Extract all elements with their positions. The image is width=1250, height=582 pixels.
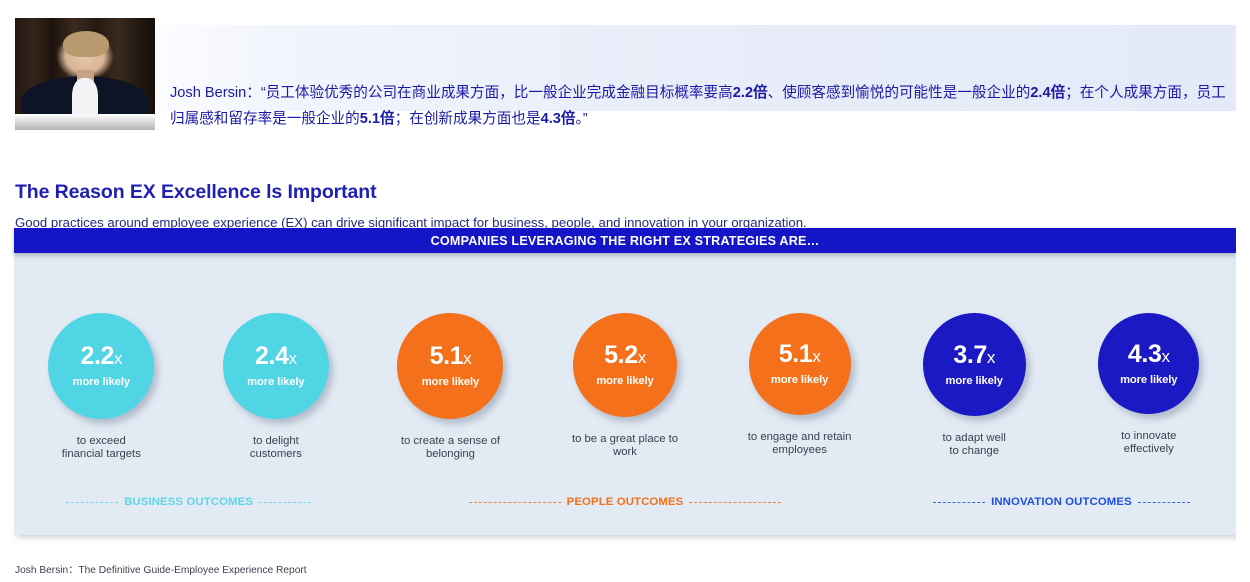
stat-multiplier-suffix: x (1161, 347, 1169, 366)
stat-caption: to create a sense of belonging (401, 435, 500, 461)
legend-rule-left (469, 502, 561, 503)
quote-mid-3: ；在创新成果方面也是 (395, 111, 541, 127)
stat-bubble[interactable]: 4.3xmore likely (1098, 313, 1199, 414)
stat-item: 2.4xmore likelyto delight customers (189, 313, 364, 461)
stat-multiplier-suffix: x (114, 349, 122, 368)
stat-item: 5.1xmore likelyto engage and retain empl… (712, 313, 887, 461)
stat-sublabel: more likely (73, 376, 130, 388)
legend-label-text: BUSINESS OUTCOMES (124, 496, 253, 508)
portrait-photo (15, 18, 155, 114)
panel-banner: COMPANIES LEVERAGING THE RIGHT EX STRATE… (14, 228, 1236, 253)
stat-multiplier-suffix: x (463, 349, 471, 368)
group-label-3: INNOVATION OUTCOMES (887, 496, 1236, 508)
stat-caption: to innovate effectively (1121, 430, 1176, 456)
group-label-2: PEOPLE OUTCOMES (363, 496, 887, 508)
stat-caption: to exceed financial targets (62, 435, 141, 461)
stat-item: 5.1xmore likelyto create a sense of belo… (363, 313, 538, 461)
stat-caption: to be a great place to work (572, 433, 678, 459)
stat-sublabel: more likely (771, 374, 828, 386)
portrait-shirt (72, 78, 98, 114)
quote-mid-1: 、使顾客感到愉悦的可能性是一般企业的 (768, 85, 1031, 101)
stats-panel: COMPANIES LEVERAGING THE RIGHT EX STRATE… (14, 228, 1236, 535)
stat-bubble[interactable]: 5.1xmore likely (749, 313, 851, 415)
source-note: Josh Bersin：The Definitive Guide-Employe… (15, 561, 307, 576)
quote-value-2: 2.4倍 (1030, 85, 1065, 101)
stat-value: 2.2x (80, 344, 122, 369)
legend-rule-right (259, 502, 311, 503)
stats-row: 2.2xmore likelyto exceed financial targe… (14, 313, 1236, 461)
legend-label-text: INNOVATION OUTCOMES (991, 496, 1132, 508)
stat-caption: to adapt well to change (942, 432, 1005, 458)
legend-rule-left (66, 502, 118, 503)
stat-sublabel: more likely (1120, 374, 1177, 386)
group-label-1: BUSINESS OUTCOMES (14, 496, 363, 508)
stat-bubble[interactable]: 2.4xmore likely (223, 313, 329, 419)
group-legend: BUSINESS OUTCOMESPEOPLE OUTCOMESINNOVATI… (14, 496, 1236, 508)
stat-sublabel: more likely (422, 376, 479, 388)
stat-item: 2.2xmore likelyto exceed financial targe… (14, 313, 189, 461)
legend-rule-left (933, 502, 985, 503)
stat-multiplier-suffix: x (987, 348, 995, 367)
legend-rule-right (1138, 502, 1190, 503)
stat-item: 3.7xmore likelyto adapt well to change (887, 313, 1062, 461)
quote-close: 。” (575, 111, 587, 127)
page-title: The Reason EX Excellence ls Important (15, 181, 377, 204)
stat-value: 5.1x (779, 342, 821, 367)
stat-bubble[interactable]: 5.2xmore likely (573, 313, 677, 417)
stat-value: 5.2x (604, 343, 646, 368)
stat-bubble[interactable]: 2.2xmore likely (48, 313, 154, 419)
portrait-reflection (15, 114, 155, 130)
stat-value: 2.4x (255, 344, 297, 369)
page-right-margin (1236, 0, 1250, 582)
stat-value: 5.1x (430, 344, 472, 369)
stat-caption: to delight customers (250, 435, 302, 461)
legend-rule-right (689, 502, 781, 503)
stat-value: 3.7x (953, 343, 995, 368)
portrait-image (15, 18, 155, 114)
stat-caption: to engage and retain employees (748, 431, 852, 457)
legend-label-text: PEOPLE OUTCOMES (567, 496, 684, 508)
quote-text: Josh Bersin：“员工体验优秀的公司在商业成果方面，比一般企业完成金融目… (170, 80, 1228, 132)
stat-sublabel: more likely (596, 375, 653, 387)
quote-open: “员工体验优秀的公司在商业成果方面，比一般企业完成金融目标概率要高 (261, 85, 733, 101)
stat-sublabel: more likely (247, 376, 304, 388)
quote-value-1: 2.2倍 (733, 85, 768, 101)
stat-sublabel: more likely (945, 375, 1002, 387)
stat-multiplier-suffix: x (812, 347, 820, 366)
stat-item: 5.2xmore likelyto be a great place to wo… (538, 313, 713, 461)
stat-value: 4.3x (1128, 342, 1170, 367)
stat-multiplier-suffix: x (289, 349, 297, 368)
stat-item: 4.3xmore likelyto innovate effectively (1061, 313, 1236, 461)
stat-bubble[interactable]: 5.1xmore likely (397, 313, 503, 419)
quote-value-4: 4.3倍 (541, 111, 576, 127)
stat-bubble[interactable]: 3.7xmore likely (923, 313, 1026, 416)
stat-multiplier-suffix: x (638, 348, 646, 367)
quote-banner: Josh Bersin：“员工体验优秀的公司在商业成果方面，比一般企业完成金融目… (0, 25, 1236, 111)
quote-value-3: 5.1倍 (360, 111, 395, 127)
quote-speaker: Josh Bersin： (170, 85, 261, 101)
